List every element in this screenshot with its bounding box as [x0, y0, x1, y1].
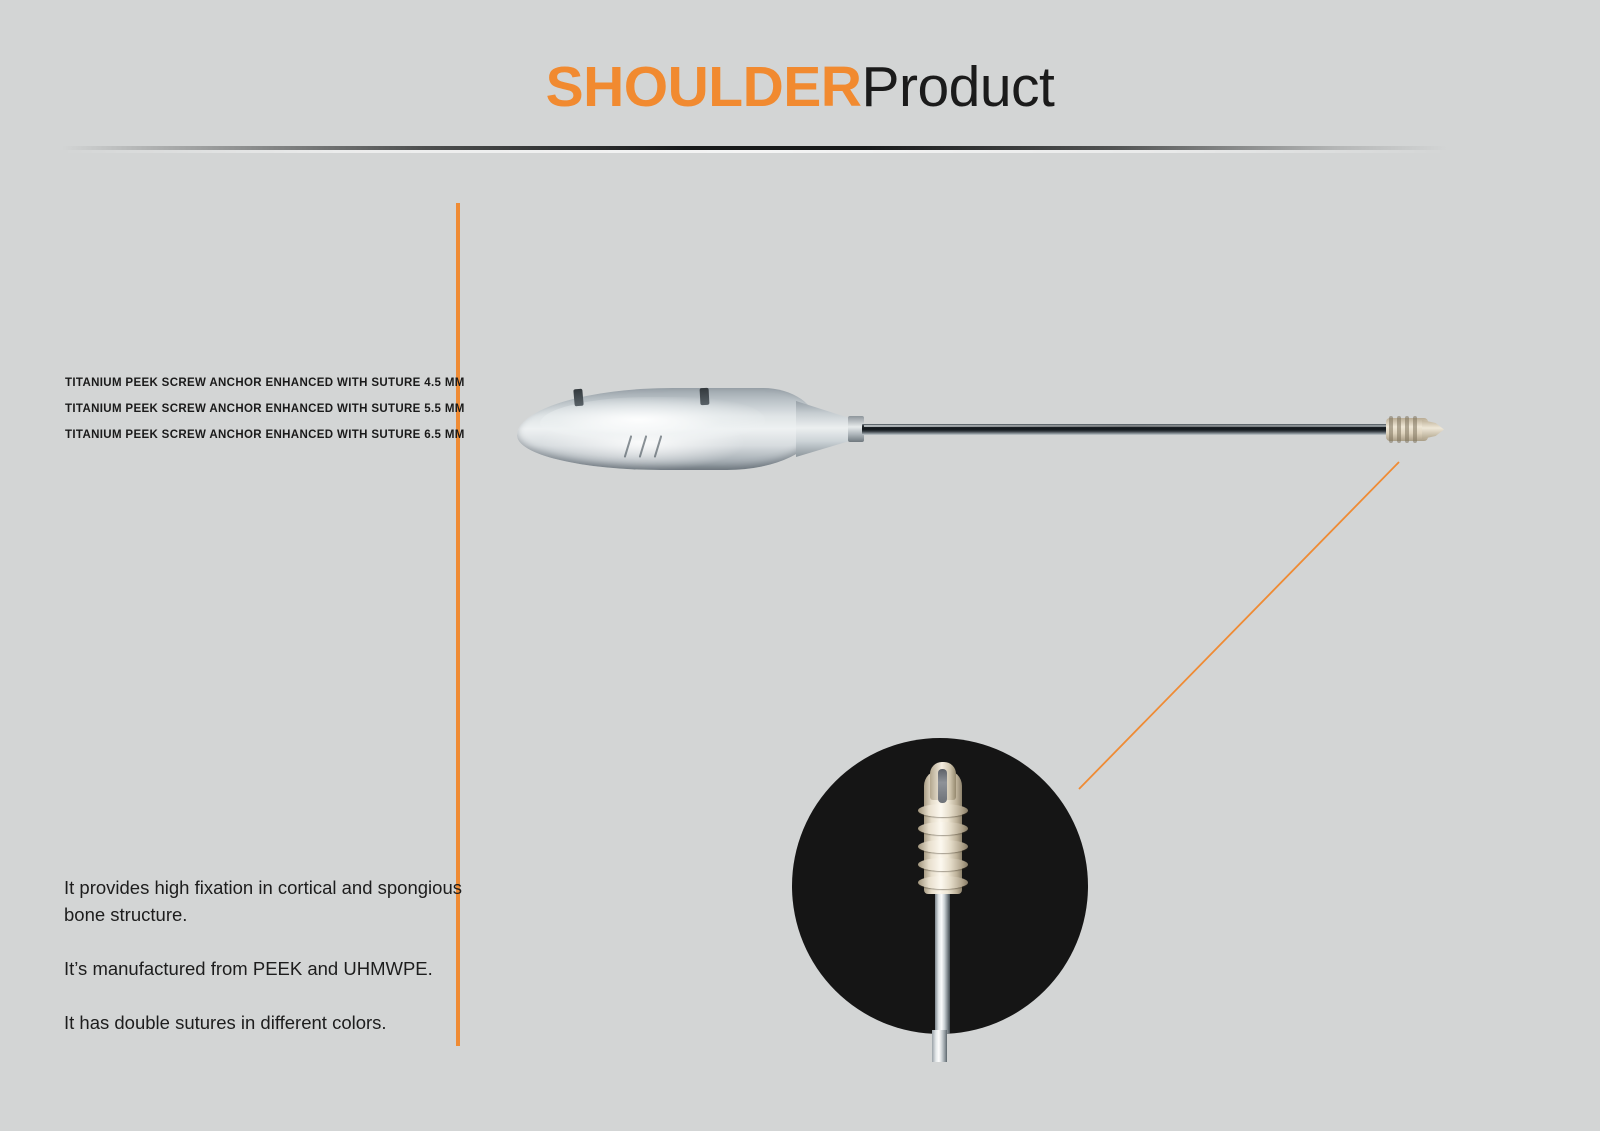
product-page: SHOULDERProduct TITANIUM PEEK SCREW ANCH… [0, 0, 1600, 1131]
anchor-thread [1413, 416, 1417, 443]
page-title-light: Product [861, 55, 1054, 119]
spec-list: TITANIUM PEEK SCREW ANCHOR ENHANCED WITH… [65, 370, 455, 448]
anchor-thread [1389, 416, 1393, 443]
anchor-thread [1405, 416, 1409, 443]
instrument-handle-slot [573, 389, 583, 407]
detail-anchor-thread [918, 840, 968, 853]
instrument-neck [796, 401, 852, 457]
detail-anchor-thread [918, 858, 968, 871]
spec-item: TITANIUM PEEK SCREW ANCHOR ENHANCED WITH… [65, 370, 455, 396]
detail-anchor-thread [918, 804, 968, 817]
instrument-shaft-highlight [864, 425, 1388, 427]
detail-anchor-thread [918, 876, 968, 889]
page-title: SHOULDERProduct [0, 56, 1600, 119]
description-paragraph: It provides high fixation in cortical an… [64, 874, 464, 928]
detail-anchor-eyelet [938, 769, 947, 803]
instrument-anchor-tip [1386, 414, 1444, 445]
anchor-thread [1397, 416, 1401, 443]
magnified-detail-circle [792, 738, 1088, 1034]
spec-item: TITANIUM PEEK SCREW ANCHOR ENHANCED WITH… [65, 396, 455, 422]
page-title-strong: SHOULDER [546, 55, 862, 119]
spec-item: TITANIUM PEEK SCREW ANCHOR ENHANCED WITH… [65, 422, 455, 448]
anchor-nose [1422, 420, 1444, 439]
description-paragraph: It’s manufactured from PEEK and UHMWPE. [64, 955, 464, 982]
detail-anchor-thread [918, 822, 968, 835]
description-paragraph: It has double sutures in different color… [64, 1009, 464, 1036]
product-instrument-image [512, 375, 1452, 495]
detail-shaft [935, 886, 950, 1034]
instrument-handle-slot [700, 388, 710, 405]
header-divider-sheen [62, 150, 1447, 153]
description-block: It provides high fixation in cortical an… [64, 874, 464, 1036]
detail-shaft-extension [932, 1030, 947, 1062]
